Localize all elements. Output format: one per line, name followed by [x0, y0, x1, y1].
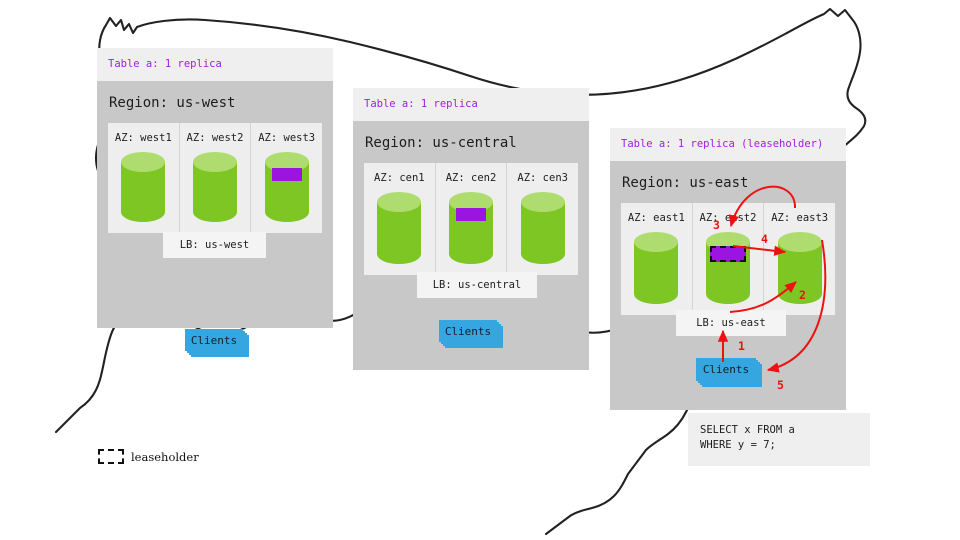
az-label-west2: AZ: west2: [187, 123, 244, 151]
diagram-canvas: Table a: 1 replica Region: us-west AZ: w…: [0, 0, 960, 540]
az-cell-cen2[interactable]: AZ: cen2: [436, 163, 508, 275]
region-panel-us-central: Table a: 1 replica Region: us-central AZ…: [353, 88, 589, 370]
load-balancer-us-central[interactable]: LB: us-central: [417, 272, 537, 298]
region-panel-us-west: Table a: 1 replica Region: us-west AZ: w…: [97, 48, 333, 328]
legend: leaseholder: [98, 449, 199, 464]
region-panel-us-east: Table a: 1 replica (leaseholder) Region:…: [610, 128, 846, 410]
panel-title-us-central: Table a: 1 replica: [353, 88, 589, 121]
az-cell-west2[interactable]: AZ: west2: [180, 123, 252, 233]
az-label-cen2: AZ: cen2: [446, 163, 497, 191]
az-strip-us-central: AZ: cen1 AZ: cen2: [364, 163, 578, 275]
az-cell-west1[interactable]: AZ: west1: [108, 123, 180, 233]
database-icon: [376, 191, 422, 265]
clients-label-us-east: Clients: [703, 363, 749, 376]
database-icon: [633, 231, 679, 305]
database-icon: [448, 191, 494, 265]
az-cell-cen3[interactable]: AZ: cen3: [507, 163, 578, 275]
az-cell-cen1[interactable]: AZ: cen1: [364, 163, 436, 275]
database-icon: [192, 151, 238, 223]
flow-number-3: 3: [713, 218, 720, 232]
database-icon: [264, 151, 310, 223]
flow-number-1: 1: [738, 339, 745, 353]
clients-label-us-central: Clients: [445, 325, 491, 338]
az-label-east2: AZ: east2: [700, 203, 757, 231]
db-node-east2[interactable]: [705, 231, 751, 309]
az-label-west3: AZ: west3: [258, 123, 315, 151]
db-node-cen2[interactable]: [448, 191, 494, 269]
db-node-west1[interactable]: [120, 151, 166, 227]
legend-label: leaseholder: [131, 450, 199, 464]
az-label-east3: AZ: east3: [771, 203, 828, 231]
load-balancer-us-east[interactable]: LB: us-east: [676, 310, 786, 336]
az-cell-east1[interactable]: AZ: east1: [621, 203, 693, 315]
az-label-cen3: AZ: cen3: [517, 163, 568, 191]
flow-number-5: 5: [777, 378, 784, 392]
sql-query-text: SELECT x FROM a WHERE y = 7;: [700, 424, 795, 451]
load-balancer-us-west[interactable]: LB: us-west: [163, 232, 266, 258]
database-icon: [705, 231, 751, 305]
clients-button-us-east[interactable]: Clients: [696, 358, 756, 381]
clients-button-us-central[interactable]: Clients: [439, 320, 497, 342]
region-label-us-east: Region: us-east: [610, 161, 846, 203]
leaseholder-block-east2[interactable]: [710, 246, 746, 262]
clients-stack-us-east[interactable]: Clients: [696, 358, 766, 390]
az-strip-us-west: AZ: west1 AZ: west2 AZ:: [108, 123, 322, 233]
lb-label-us-east: LB: us-east: [696, 317, 766, 329]
region-label-us-central: Region: us-central: [353, 121, 589, 163]
db-node-cen3[interactable]: [520, 191, 566, 269]
database-icon: [120, 151, 166, 223]
lb-label-us-west: LB: us-west: [180, 239, 250, 251]
lb-label-us-central: LB: us-central: [433, 279, 522, 291]
sql-query-box: SELECT x FROM a WHERE y = 7;: [688, 413, 870, 466]
panel-title-us-west: Table a: 1 replica: [97, 48, 333, 81]
db-node-west2[interactable]: [192, 151, 238, 227]
dashed-rect-icon: [98, 449, 124, 464]
az-label-west1: AZ: west1: [115, 123, 172, 151]
db-node-cen1[interactable]: [376, 191, 422, 269]
replica-block-west3[interactable]: [272, 168, 302, 181]
clients-button-us-west[interactable]: Clients: [185, 329, 243, 351]
flow-number-4: 4: [761, 232, 768, 246]
clients-stack-us-central[interactable]: Clients: [439, 320, 505, 352]
clients-label-us-west: Clients: [191, 334, 237, 347]
az-label-cen1: AZ: cen1: [374, 163, 425, 191]
db-node-west3[interactable]: [264, 151, 310, 227]
database-icon: [520, 191, 566, 265]
az-cell-east2[interactable]: AZ: east2: [693, 203, 765, 315]
az-label-east1: AZ: east1: [628, 203, 685, 231]
replica-block-cen2[interactable]: [456, 208, 486, 221]
panel-title-us-east: Table a: 1 replica (leaseholder): [610, 128, 846, 161]
db-node-east1[interactable]: [633, 231, 679, 309]
clients-stack-us-west[interactable]: Clients: [185, 329, 251, 361]
az-cell-west3[interactable]: AZ: west3: [251, 123, 322, 233]
flow-number-2: 2: [799, 288, 806, 302]
region-label-us-west: Region: us-west: [97, 81, 333, 123]
